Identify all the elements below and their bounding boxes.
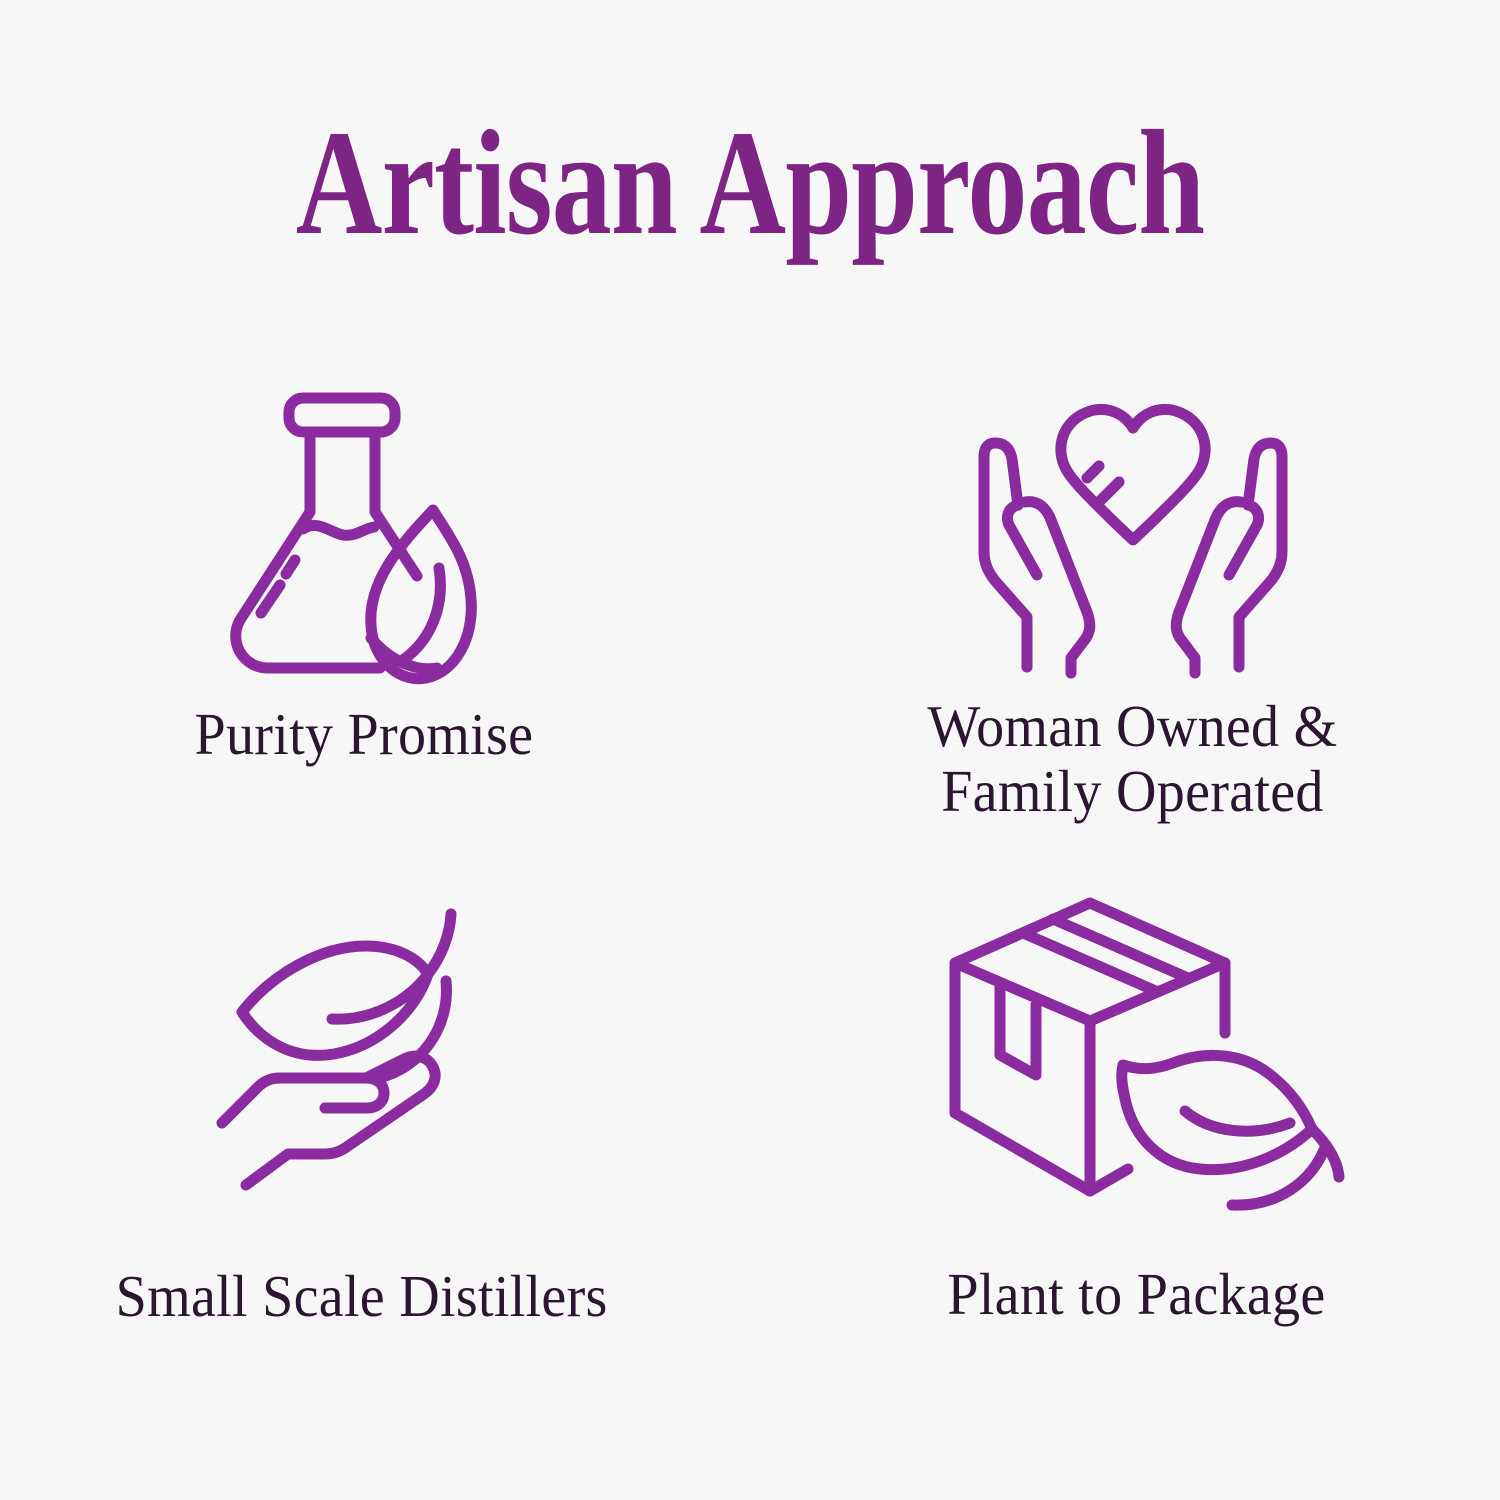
feature-item-woman-owned: Woman Owned & Family Operated: [750, 360, 1500, 860]
feature-label-purity-promise: Purity Promise: [194, 702, 533, 767]
feature-label-woman-owned: Woman Owned & Family Operated: [928, 694, 1338, 824]
leaf-in-hand-icon: [207, 890, 507, 1190]
feature-label-plant-to-package: Plant to Package: [947, 1262, 1325, 1327]
feature-item-small-scale-distillers: Small Scale Distillers: [0, 860, 750, 1360]
flask-leaf-icon: [210, 372, 510, 672]
feature-grid: Purity Promise: [0, 360, 1500, 1360]
box-leaf-icon: [997, 888, 1297, 1188]
page-title: Artisan Approach: [150, 108, 1350, 258]
hands-heart-icon: [968, 380, 1298, 680]
feature-label-small-scale-distillers: Small Scale Distillers: [116, 1264, 608, 1329]
artisan-approach-panel: Artisan Approach: [0, 0, 1500, 1500]
feature-item-plant-to-package: Plant to Package: [750, 860, 1500, 1360]
feature-item-purity-promise: Purity Promise: [0, 360, 750, 860]
